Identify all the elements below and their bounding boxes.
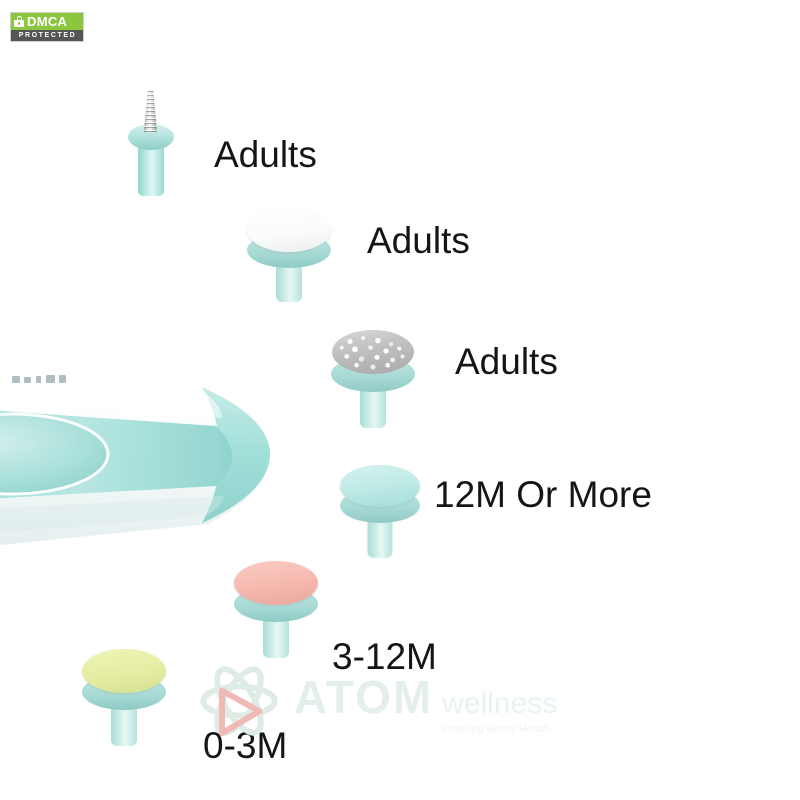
attachment-head-cone-metal [128,86,174,196]
grit-abrasive-surface [332,330,414,374]
label-adults-3: Adults [455,343,558,380]
lock-icon [14,16,24,27]
attachment-disc-surface [82,649,166,693]
attachment-head-white-disc [247,202,331,300]
label-0-3m: 0-3M [203,727,287,764]
attachment-disc-surface [247,208,331,252]
attachment-disc-surface [234,561,318,605]
attachment-head-pink-disc [234,556,318,656]
product-image-canvas: Adults Adults Adults 12M Or More 3-12M 0… [0,0,800,800]
dmca-protected-badge[interactable]: DMCA PROTECTED [10,12,84,42]
watermark-brand-secondary: wellness [442,689,557,719]
watermark-tagline: Inspiring Better Health [442,724,557,735]
label-adults-1: Adults [214,136,317,173]
dmca-badge-subtitle: PROTECTED [11,30,83,41]
attachment-head-mint-disc [340,460,420,556]
attachment-head-grit-disc [331,326,415,426]
electric-nail-trimmer-body [0,330,330,585]
label-3-12m: 3-12M [332,638,437,675]
attachment-disc-surface [340,465,420,507]
watermark-brand: ATOM [294,674,433,720]
label-adults-2: Adults [367,222,470,259]
metal-cone-tip [144,90,157,132]
dmca-badge-top: DMCA [11,13,83,30]
dmca-badge-word: DMCA [27,15,67,28]
label-12m-or-more: 12M Or More [434,476,652,513]
attachment-head-yellow-disc [82,644,166,744]
